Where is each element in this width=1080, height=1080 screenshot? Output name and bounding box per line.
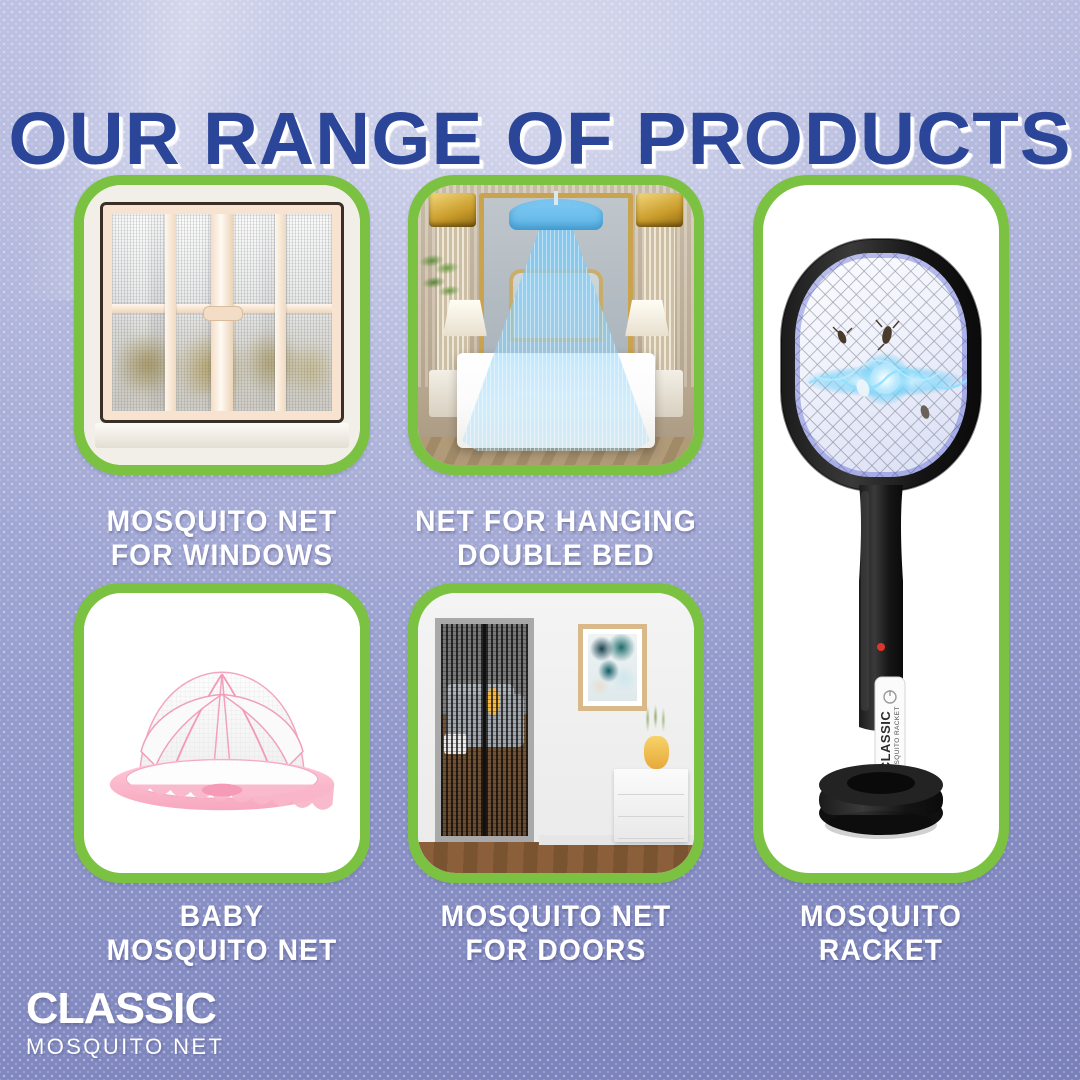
caption-mosquito-net-for-windows: MOSQUITO NET FOR WINDOWS: [73, 505, 370, 573]
product-card-mosquito-net-for-doors[interactable]: [408, 583, 704, 883]
product-card-baby-mosquito-net[interactable]: [74, 583, 370, 883]
pineapple-vase-icon: [644, 736, 669, 770]
window-handle-icon: [203, 306, 243, 321]
gold-capital-ornament-icon: [636, 193, 683, 227]
product-image-window: [84, 185, 360, 465]
mosquito-racket-icon: CLASSIC MOSQUITO RACKET: [763, 185, 999, 873]
dresser-icon: [614, 769, 689, 842]
product-card-mosquito-racket[interactable]: CLASSIC MOSQUITO RACKET: [753, 175, 1009, 883]
lamp-icon: [625, 300, 669, 336]
product-image-baby-net: [84, 593, 360, 873]
led-indicator-icon: [877, 643, 885, 651]
caption-mosquito-racket: MOSQUITO RACKET: [751, 900, 1010, 968]
wall-art-icon: [578, 624, 647, 711]
product-card-mosquito-net-for-windows[interactable]: [74, 175, 370, 475]
product-card-net-for-hanging-double-bed[interactable]: [408, 175, 704, 475]
brand-tagline: MOSQUITO NET: [26, 1036, 224, 1058]
lamp-icon: [443, 300, 487, 336]
product-image-racket: CLASSIC MOSQUITO RACKET: [763, 185, 999, 873]
svg-text:CLASSIC: CLASSIC: [878, 711, 893, 772]
baby-net-icon: [84, 593, 360, 873]
doorway-with-screen-icon: [435, 618, 534, 842]
caption-net-for-hanging-double-bed: NET FOR HANGING DOUBLE BED: [407, 505, 704, 573]
brand-logo: CLASSIC MOSQUITO NET: [26, 987, 224, 1058]
window-frame-icon: [103, 205, 340, 421]
brand-name: CLASSIC: [26, 987, 228, 1031]
caption-mosquito-net-for-doors: MOSQUITO NET FOR DOORS: [407, 900, 704, 968]
product-image-hanging-bed-net: [418, 185, 694, 465]
caption-baby-mosquito-net: BABY MOSQUITO NET: [73, 900, 370, 968]
product-image-door-net: [418, 593, 694, 873]
reed-plant-icon: [636, 699, 675, 738]
gold-capital-ornament-icon: [429, 193, 476, 227]
page-title: OUR RANGE OF PRODUCTS: [0, 102, 1080, 176]
